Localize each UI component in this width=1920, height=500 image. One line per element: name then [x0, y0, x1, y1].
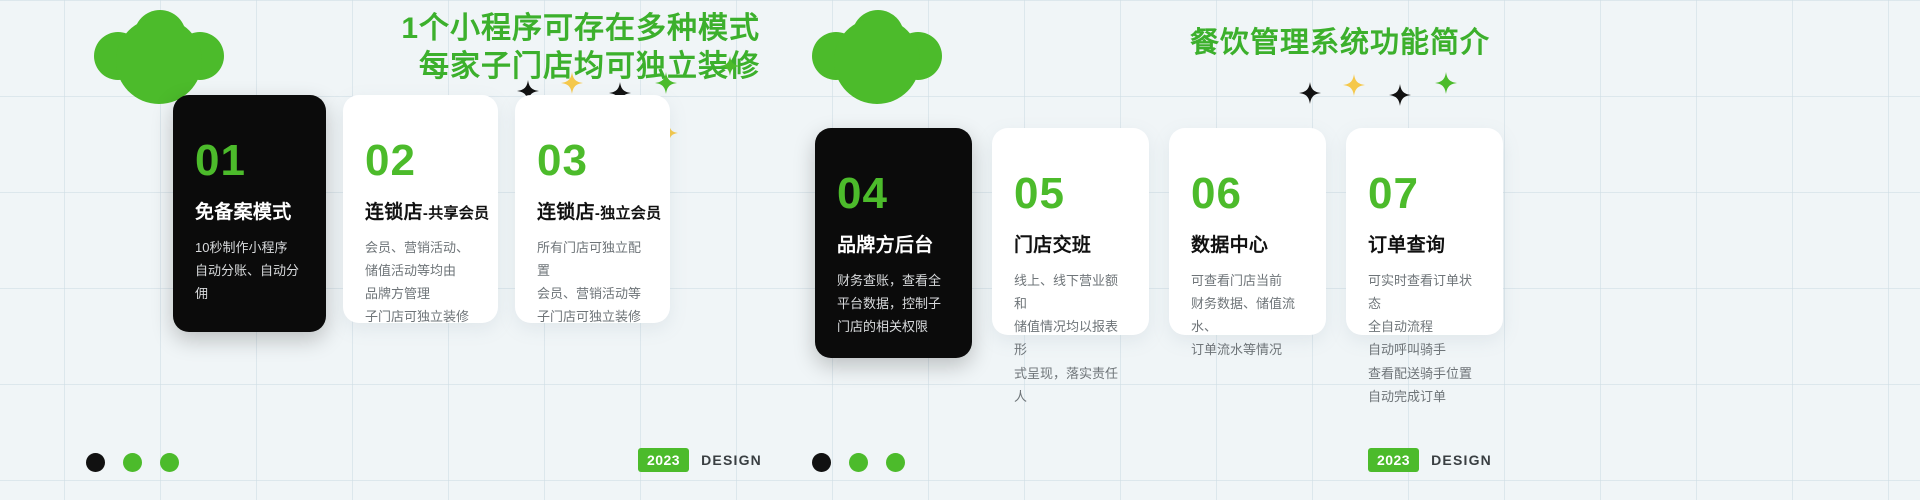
card-number: 06: [1191, 172, 1304, 216]
card-04[interactable]: 04 品牌方后台 财务查账，查看全 平台数据，控制子 门店的相关权限: [815, 128, 972, 358]
card-05[interactable]: 05 门店交班 线上、线下营业额和 储值情况均以报表形 式呈现，落实责任人: [992, 128, 1149, 335]
sparkle-green-icon: [1435, 72, 1457, 94]
sparkle-green-icon: [720, 55, 740, 77]
sparkle-black-icon: [1388, 84, 1412, 106]
dot-dark: [86, 453, 105, 472]
dot-green: [160, 453, 179, 472]
card-title: 订单查询: [1368, 230, 1481, 257]
infographic-canvas: 1个小程序可存在多种模式 每家子门店均可独立装修 01 免备案模式: [0, 0, 1920, 500]
badge-word: DESIGN: [701, 452, 762, 468]
card-01[interactable]: 01 免备案模式 10秒制作小程序 自动分账、自动分佣: [173, 95, 326, 332]
card-number: 02: [365, 139, 476, 183]
card-07[interactable]: 07 订单查询 可实时查看订单状态 全自动流程 自动呼叫骑手 查看配送骑手位置 …: [1346, 128, 1503, 335]
card-title: 连锁店-共享会员: [365, 197, 476, 224]
card-title: 免备案模式: [195, 197, 304, 224]
card-description: 会员、营销活动、 储值活动等均由 品牌方管理 子门店可独立装修: [365, 236, 476, 329]
card-list-left: 01 免备案模式 10秒制作小程序 自动分账、自动分佣 02 连锁店-共享会员 …: [173, 95, 670, 332]
card-description: 所有门店可独立配置 会员、营销活动等 子门店可独立装修: [537, 236, 648, 329]
card-title: 门店交班: [1014, 230, 1127, 257]
card-description: 线上、线下营业额和 储值情况均以报表形 式呈现，落实责任人: [1014, 269, 1127, 408]
sparkle-yellow-icon: [560, 72, 584, 94]
badge-word: DESIGN: [1431, 452, 1492, 468]
sparkle-black-icon: [1298, 82, 1322, 104]
card-number: 03: [537, 139, 648, 183]
dot-row-right: [812, 453, 905, 472]
card-description: 财务查账，查看全 平台数据，控制子 门店的相关权限: [837, 269, 950, 338]
dot-dark: [812, 453, 831, 472]
card-title: 数据中心: [1191, 230, 1304, 257]
badge-year: 2023: [638, 448, 689, 472]
card-number: 05: [1014, 172, 1127, 216]
card-title: 连锁店-独立会员: [537, 197, 648, 224]
badge-year: 2023: [1368, 448, 1419, 472]
cloud-blob-icon: [812, 10, 942, 105]
badge-left: 2023 DESIGN: [638, 448, 762, 472]
dot-green: [123, 453, 142, 472]
panel-left-headline: 1个小程序可存在多种模式 每家子门店均可独立装修: [340, 10, 760, 87]
card-title: 品牌方后台: [837, 230, 950, 257]
card-number: 01: [195, 139, 304, 183]
card-03[interactable]: 03 连锁店-独立会员 所有门店可独立配置 会员、营销活动等 子门店可独立装修: [515, 95, 670, 323]
cloud-blob-icon: [94, 10, 224, 105]
card-06[interactable]: 06 数据中心 可查看门店当前 财务数据、储值流水、 订单流水等情况: [1169, 128, 1326, 335]
dot-green: [849, 453, 868, 472]
sparkle-green-icon: [655, 72, 677, 94]
sparkle-yellow-icon: [1342, 74, 1366, 96]
dot-row-left: [86, 453, 179, 472]
panel-right: 餐饮管理系统功能简介 04 品牌方后台 财务查账，查看全 平台数据，控制子 门店…: [790, 0, 1510, 500]
panel-left: 1个小程序可存在多种模式 每家子门店均可独立装修 01 免备案模式: [60, 0, 780, 500]
card-02[interactable]: 02 连锁店-共享会员 会员、营销活动、 储值活动等均由 品牌方管理 子门店可独…: [343, 95, 498, 323]
badge-right: 2023 DESIGN: [1368, 448, 1492, 472]
card-description: 可实时查看订单状态 全自动流程 自动呼叫骑手 查看配送骑手位置 自动完成订单: [1368, 269, 1481, 408]
card-number: 07: [1368, 172, 1481, 216]
panel-right-headline: 餐饮管理系统功能简介: [1070, 25, 1490, 62]
card-description: 10秒制作小程序 自动分账、自动分佣: [195, 236, 304, 305]
card-number: 04: [837, 172, 950, 216]
card-description: 可查看门店当前 财务数据、储值流水、 订单流水等情况: [1191, 269, 1304, 362]
dot-green: [886, 453, 905, 472]
card-list-right: 04 品牌方后台 财务查账，查看全 平台数据，控制子 门店的相关权限 05 门店…: [815, 128, 1503, 358]
